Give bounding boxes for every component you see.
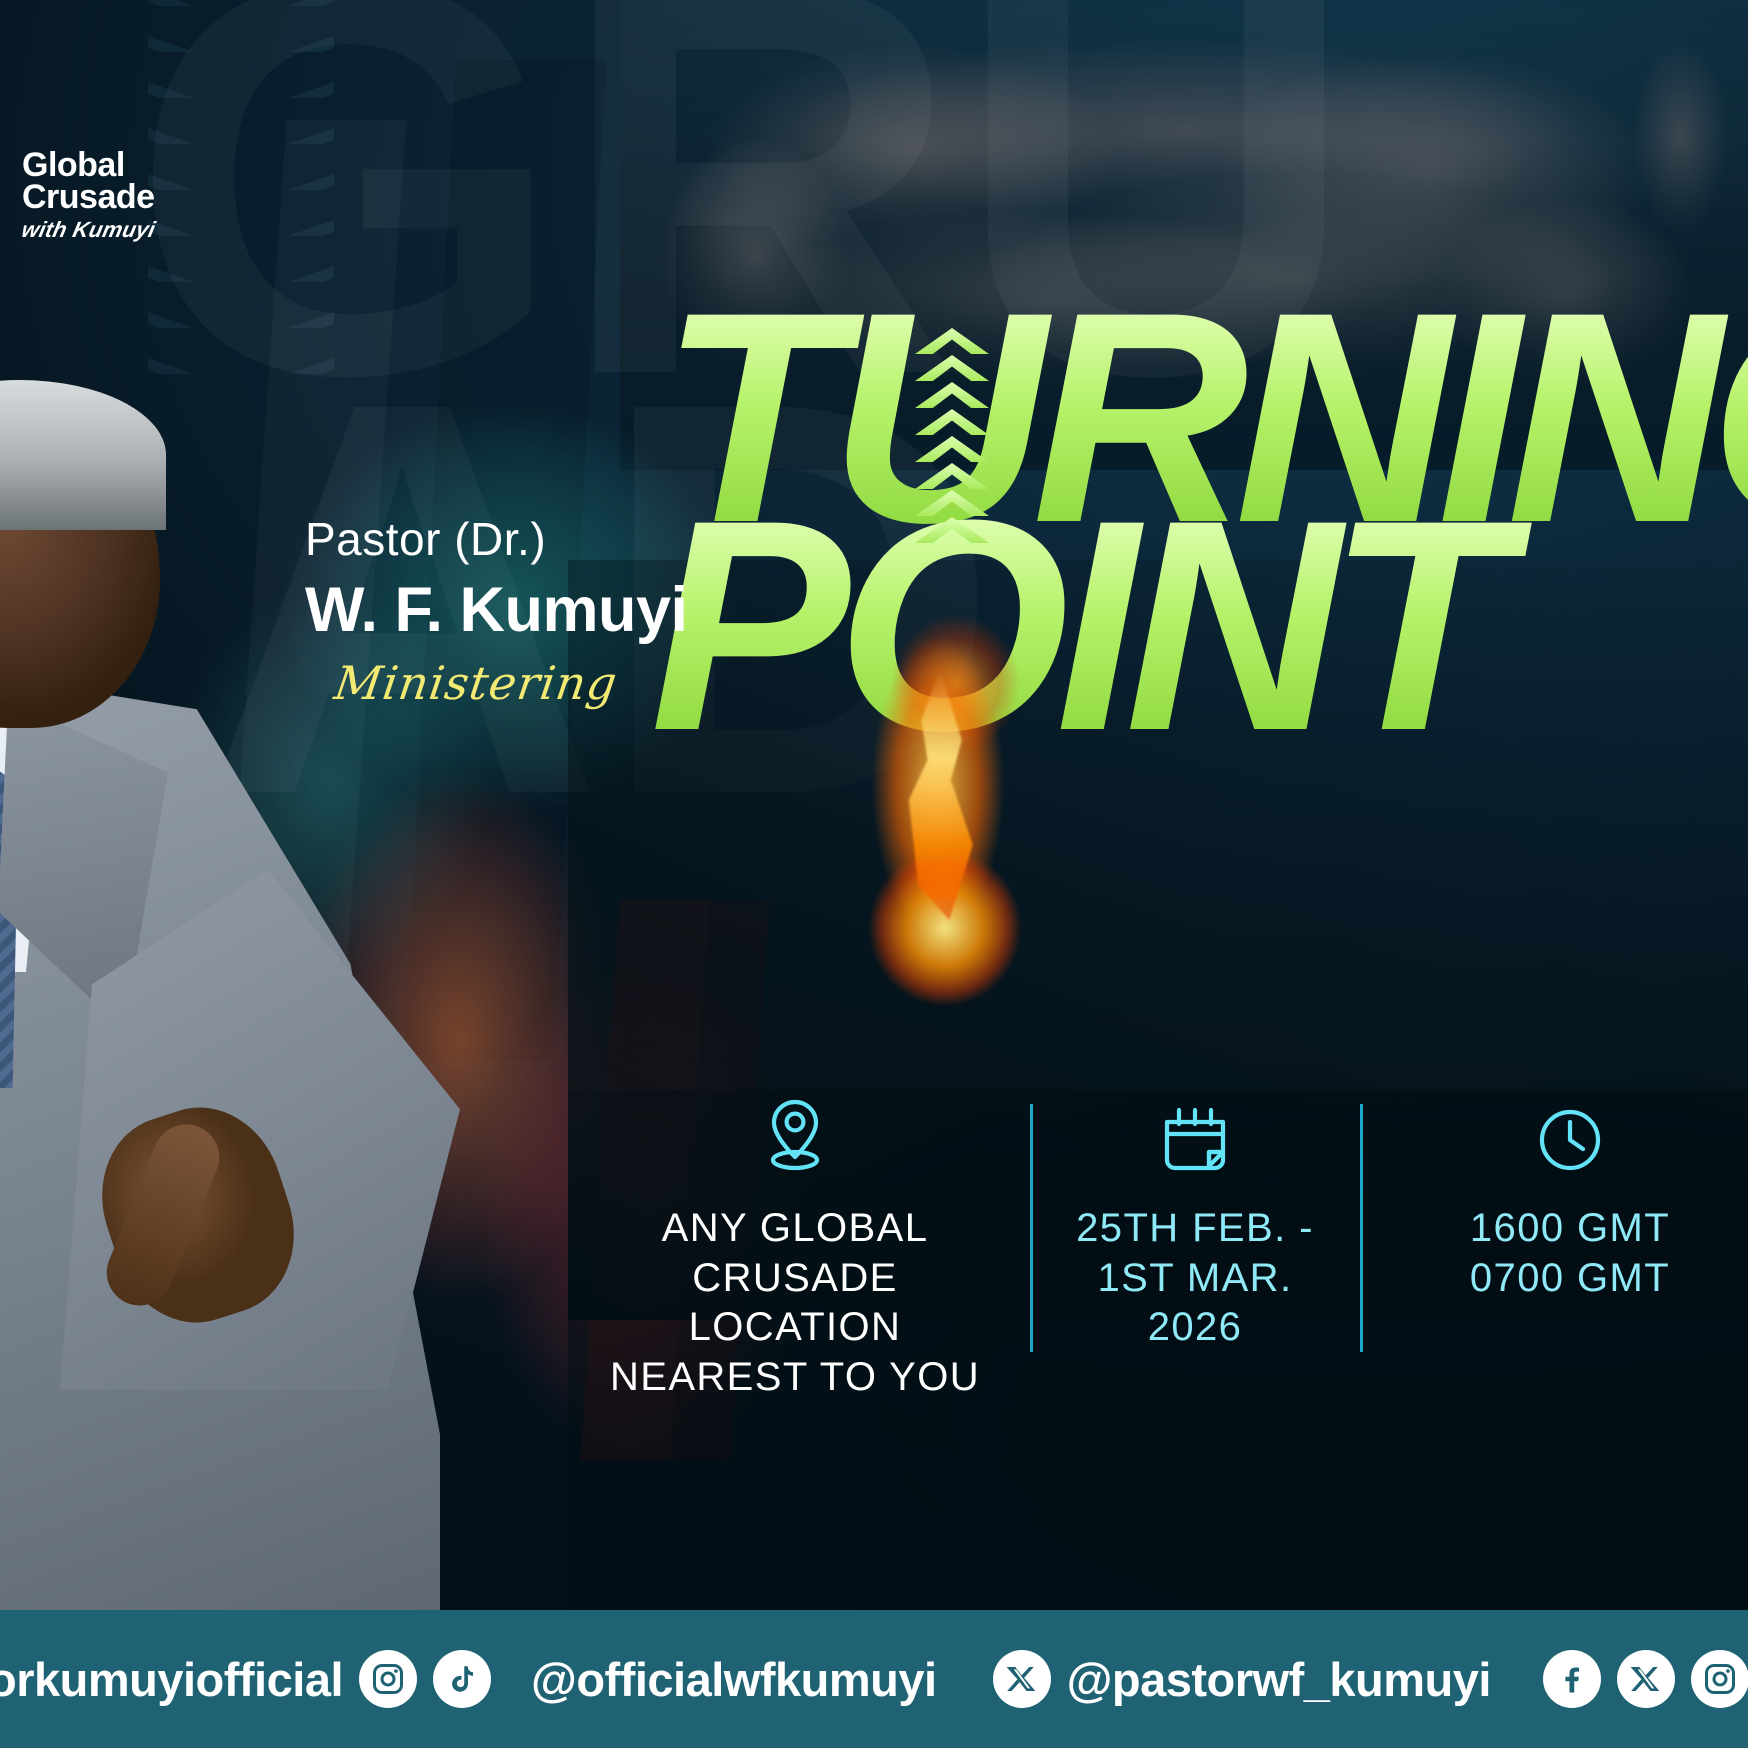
date-line-2: 1ST MAR. [1098, 1256, 1293, 1300]
logo-line-with-kumuyi: with Kumuyi [19, 217, 255, 243]
time-text: 1600 GMT 0700 GMT [1394, 1204, 1746, 1303]
arrow-up-icon [915, 382, 989, 408]
social-group-x: @pastorwf_kumuyi [993, 1650, 1491, 1708]
social-group-right-icons: @ [1543, 1650, 1748, 1708]
info-time: 1600 GMT 0700 GMT [1360, 1090, 1748, 1402]
arrow-up-icon [915, 517, 989, 543]
x-icon[interactable] [1617, 1650, 1675, 1708]
chevron-shape [148, 0, 334, 36]
speaker-name: W. F. Kumuyi [305, 574, 688, 646]
date-line-3: 2026 [1148, 1305, 1243, 1349]
info-date: 25TH FEB. - 1ST MAR. 2026 [1030, 1090, 1360, 1402]
global-crusade-logo: Global Crusade with Kumuyi [22, 150, 252, 243]
date-line-1: 25TH FEB. - [1076, 1206, 1314, 1250]
location-text: ANY GLOBAL CRUSADE LOCATION NEAREST TO Y… [594, 1204, 996, 1402]
facebook-icon[interactable] [1543, 1650, 1601, 1708]
social-handle-left[interactable]: orkumuyiofficial [0, 1652, 343, 1707]
speaker-title: Pastor (Dr.) [305, 512, 688, 566]
arrow-up-icon [915, 328, 989, 354]
arrow-up-icon [915, 355, 989, 381]
time-line-2: 0700 GMT [1394, 1254, 1746, 1304]
pastor-hair [0, 380, 166, 530]
x-icon[interactable] [993, 1650, 1051, 1708]
time-line-1: 1600 GMT [1394, 1204, 1746, 1254]
info-divider-1 [1030, 1104, 1033, 1352]
headline-block: TURNING POINT [660, 300, 1748, 742]
instagram-icon[interactable] [359, 1650, 417, 1708]
chevron-shape [148, 36, 334, 82]
instagram-icon[interactable] [1691, 1650, 1748, 1708]
tiktok-icon[interactable] [433, 1650, 491, 1708]
social-handle-mid[interactable]: @officialwfkumuyi [531, 1652, 937, 1707]
info-divider-2 [1360, 1104, 1363, 1352]
event-info-row: ANY GLOBAL CRUSADE LOCATION NEAREST TO Y… [560, 1090, 1748, 1402]
logo-line-crusade: Crusade [22, 182, 252, 214]
arrow-up-icon [915, 409, 989, 435]
date-text: 25TH FEB. - 1ST MAR. 2026 [1064, 1204, 1326, 1353]
info-location: ANY GLOBAL CRUSADE LOCATION NEAREST TO Y… [560, 1090, 1030, 1402]
speaker-block: Pastor (Dr.) W. F. Kumuyi Ministering [305, 512, 688, 710]
arrow-up-icon [915, 463, 989, 489]
speaker-ministering-script: Ministering [331, 656, 691, 710]
arrow-up-icon [915, 436, 989, 462]
arrow-up-icon [915, 490, 989, 516]
upward-arrows-icon [915, 328, 1001, 558]
social-handle-right[interactable]: @pastorwf_kumuyi [1067, 1652, 1491, 1707]
clock-icon [1394, 1090, 1746, 1182]
poster-canvas: GRU AD Global Crusade with Kumuyi Pastor… [0, 0, 1748, 1748]
calendar-icon [1064, 1090, 1326, 1182]
location-pin-icon [594, 1090, 996, 1182]
social-group-left: orkumuyiofficial [0, 1650, 491, 1708]
social-group-mid: @officialwfkumuyi [531, 1652, 937, 1707]
social-bar: orkumuyiofficial @officialwfkumuyi [0, 1610, 1748, 1748]
